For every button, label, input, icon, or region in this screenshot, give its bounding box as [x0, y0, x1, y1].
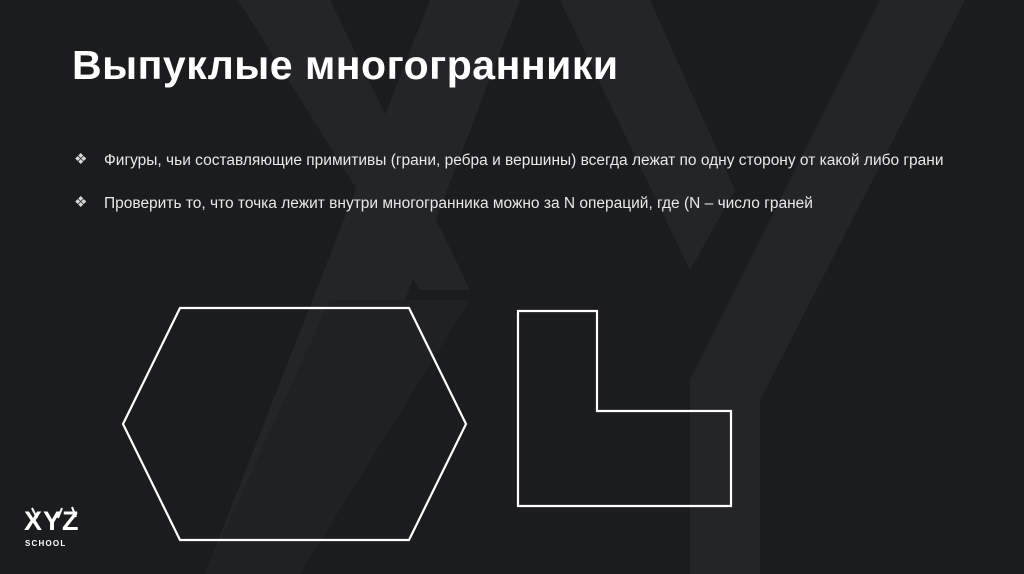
shape-figures	[0, 0, 1024, 574]
hexagon-outline	[123, 308, 466, 540]
logo: XYZ SCHOOL	[24, 504, 102, 556]
logo-subtitle: SCHOOL	[25, 539, 66, 548]
l-shape-outline	[518, 311, 731, 506]
slide: Выпуклые многогранники ❖ Фигуры, чьи сос…	[0, 0, 1024, 574]
